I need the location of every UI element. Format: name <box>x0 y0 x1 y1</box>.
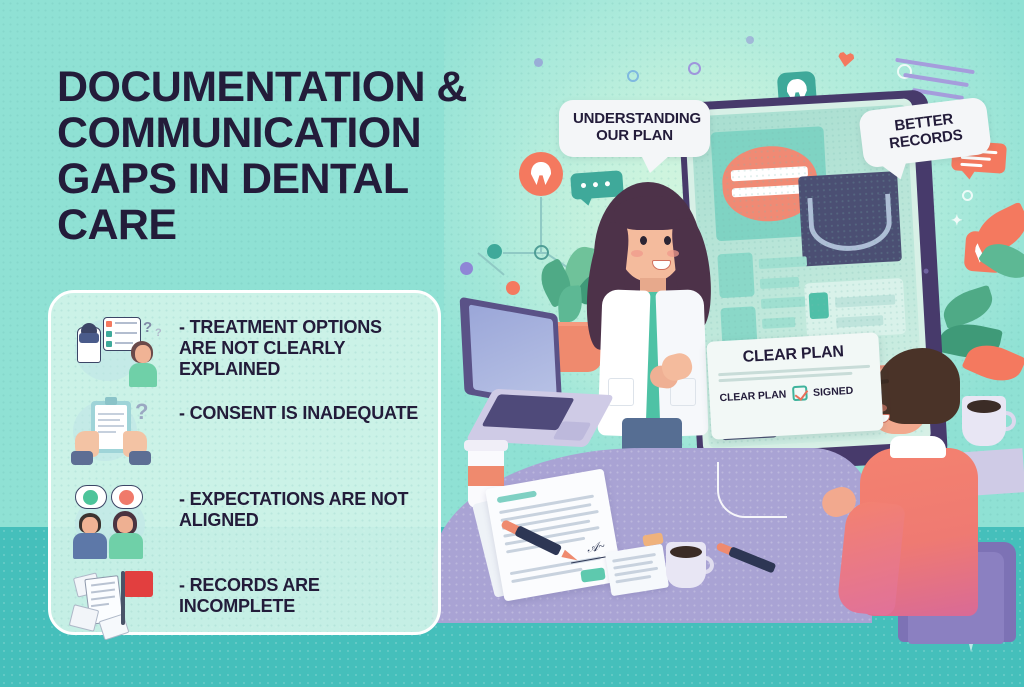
clear-plan-title: CLEAR PLAN <box>717 342 870 368</box>
title-line: DOCUMENTATION & <box>57 64 537 110</box>
page-title: DOCUMENTATION & COMMUNICATION GAPS IN DE… <box>57 64 537 248</box>
dentist-explaining-checklist-icon: ? ? <box>69 311 173 391</box>
document-small <box>605 544 669 597</box>
signed-label: SIGNED <box>813 384 854 398</box>
plan-footer: CLEAR PLAN SIGNED <box>719 382 872 405</box>
hands-holding-clipboard-question-icon: ? <box>69 397 173 477</box>
two-people-happy-sad-faces-icon <box>69 483 173 563</box>
scattered-papers-red-flag-icon <box>69 569 173 649</box>
charging-cable <box>717 462 787 518</box>
list-item: ? - CONSENT IS INADEQUATE <box>69 397 420 481</box>
laptop[interactable] <box>458 306 608 446</box>
plus-sparkle-2: ✦ <box>951 212 963 229</box>
gaps-list-card: ? ? - TREATMENT OPTIONS ARE NOT CLEARLY … <box>48 290 441 635</box>
list-item-label: - RECORDS ARE INCOMPLETE <box>173 569 420 617</box>
list-item-label: - CONSENT IS INADEQUATE <box>173 397 420 424</box>
title-line: COMMUNICATION <box>57 110 537 156</box>
list-item: - EXPECTATIONS ARE NOT ALIGNED <box>69 483 420 567</box>
list-item: ? ? - TREATMENT OPTIONS ARE NOT CLEARLY … <box>69 311 420 395</box>
tablet-camera <box>923 268 928 273</box>
title-line: CARE <box>57 202 537 248</box>
speech-bubble-understanding-our-plan: UNDERSTANDING OUR PLAN <box>559 100 710 157</box>
coffee-mug <box>666 542 714 590</box>
infographic-canvas: ✦ ✦ <box>0 0 1024 687</box>
signed-document: 𝒜~ <box>485 468 623 601</box>
signed-checkbox[interactable] <box>792 385 808 401</box>
list-item-label: - TREATMENT OPTIONS ARE NOT CLEARLY EXPL… <box>173 311 420 380</box>
title-line: GAPS IN DENTAL <box>57 156 537 202</box>
list-item-label: - EXPECTATIONS ARE NOT ALIGNED <box>173 483 420 531</box>
list-item: - RECORDS ARE INCOMPLETE <box>69 569 420 653</box>
plan-footer-label: CLEAR PLAN <box>719 388 786 404</box>
clear-plan-panel[interactable]: CLEAR PLAN CLEAR PLAN SIGNED <box>706 332 883 439</box>
